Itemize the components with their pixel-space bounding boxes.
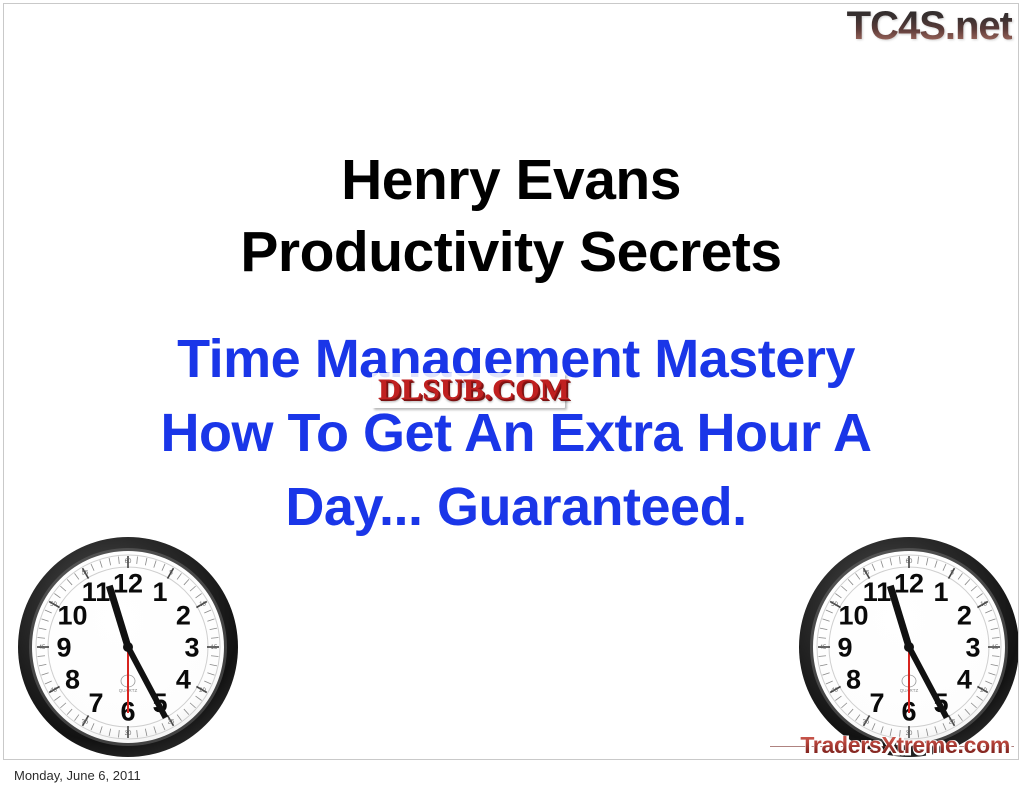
svg-text:9: 9 [837,633,852,663]
svg-text:1: 1 [933,577,948,607]
svg-text:10: 10 [980,602,987,608]
svg-text:9: 9 [56,633,71,663]
svg-text:25: 25 [949,720,956,726]
slide-page: TC4S.net TC4S.net Henry Evans Productivi… [0,0,1024,788]
svg-text:30: 30 [125,731,132,737]
title-line-1: Henry Evans [4,144,1018,216]
svg-text:20: 20 [980,688,987,694]
footer-logo-tradersxtreme: TradersXtreme.com [800,734,1010,757]
svg-text:3: 3 [184,633,199,663]
svg-text:2: 2 [176,601,191,631]
clock-face-svg-right: 60510152025303540455055 121234567891011 … [797,535,1019,759]
svg-text:50: 50 [50,602,57,608]
slide-title: Henry Evans Productivity Secrets [4,144,1018,288]
svg-text:40: 40 [831,688,838,694]
svg-text:4: 4 [957,665,972,695]
svg-text:35: 35 [82,720,89,726]
svg-text:45: 45 [820,645,827,651]
svg-text:45: 45 [39,645,46,651]
svg-text:15: 15 [992,645,999,651]
svg-text:35: 35 [863,720,870,726]
footer-date-bar [0,762,1024,788]
subtitle-line-3: Day... Guaranteed. [44,470,988,544]
svg-text:11: 11 [863,577,892,607]
svg-text:3: 3 [965,633,980,663]
svg-text:50: 50 [831,602,838,608]
svg-text:7: 7 [869,688,884,718]
svg-text:4: 4 [176,665,191,695]
svg-text:60: 60 [125,559,132,565]
svg-text:55: 55 [863,571,870,577]
svg-text:20: 20 [199,688,206,694]
svg-text:8: 8 [65,665,80,695]
svg-text:10: 10 [199,602,206,608]
wall-clock-left: 60510152025303540455055 121234567891011 … [16,535,240,759]
slide-subtitle: Time Management Mastery How To Get An Ex… [44,322,988,544]
svg-text:12: 12 [113,569,143,599]
svg-text:25: 25 [168,720,175,726]
svg-text:60: 60 [906,559,913,565]
svg-text:8: 8 [846,665,861,695]
brand-logo-tc4s: TC4S.net [847,6,1012,46]
footer-date: Monday, June 6, 2011 [14,768,141,783]
svg-text:55: 55 [82,571,89,577]
svg-text:1: 1 [152,577,167,607]
title-line-2: Productivity Secrets [4,216,1018,288]
svg-text:12: 12 [894,569,924,599]
svg-text:15: 15 [211,645,218,651]
svg-text:7: 7 [88,688,103,718]
wall-clock-right: 60510152025303540455055 121234567891011 … [797,535,1019,759]
svg-text:2: 2 [957,601,972,631]
dlsub-watermark: DLSUB.COM [372,373,565,408]
slide-canvas: TC4S.net TC4S.net Henry Evans Productivi… [3,3,1019,760]
dlsub-watermark-text: DLSUB.COM [378,375,570,405]
svg-text:11: 11 [82,577,111,607]
clock-face-svg-left: 60510152025303540455055 121234567891011 … [16,535,240,759]
svg-text:40: 40 [50,688,57,694]
